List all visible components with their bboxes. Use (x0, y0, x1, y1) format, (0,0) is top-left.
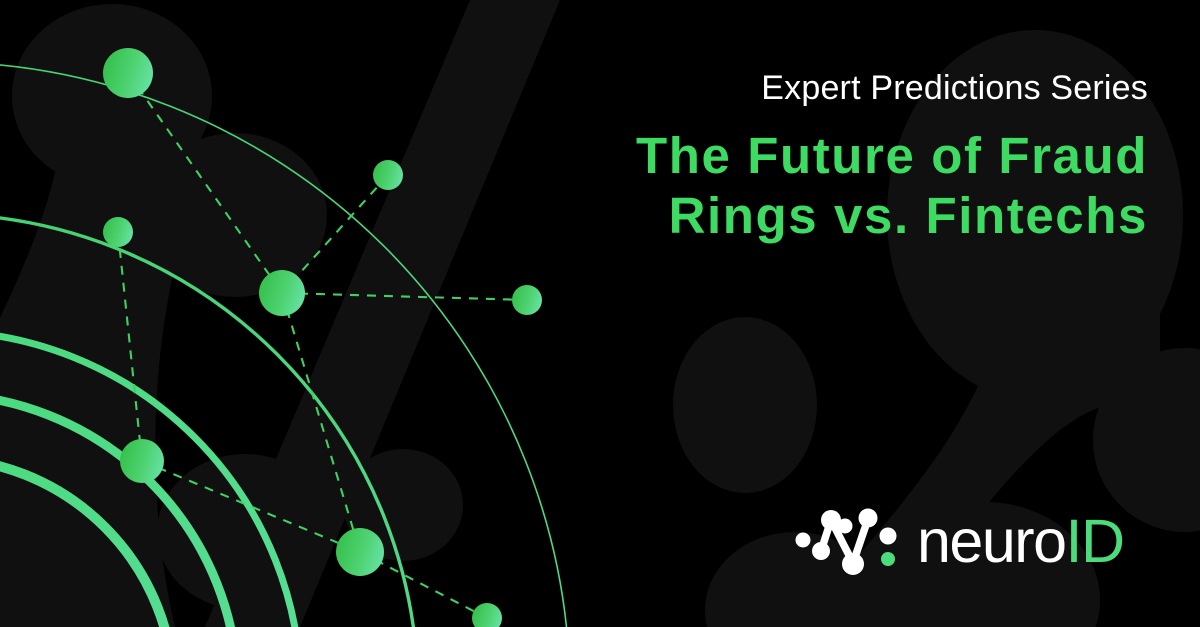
headline-line-2: Rings vs. Fintechs (448, 186, 1148, 246)
logo-colon-top (880, 528, 897, 545)
node-right-small (512, 285, 542, 315)
link-center-bottommid (282, 293, 360, 552)
page-title: The Future of Fraud Rings vs. Fintechs (448, 109, 1148, 246)
node-top-left (103, 48, 153, 98)
node-center (259, 270, 305, 316)
headline-block: Expert Predictions Series The Future of … (448, 0, 1148, 280)
node-left-small (103, 217, 133, 247)
logo-colon-bottom-accent (881, 552, 895, 566)
logo-word-neuro: neuro (917, 511, 1066, 572)
headline-line-1: The Future of Fraud (448, 126, 1148, 186)
neuroid-logo[interactable]: neuro ID (795, 495, 1187, 587)
logo-dot-far-left (796, 533, 811, 548)
node-bottom-right (472, 603, 502, 627)
promo-banner: Expert Predictions Series The Future of … (0, 0, 1200, 627)
neuroid-node-mark (795, 499, 903, 583)
link-leftsmall-leftlarge (118, 232, 142, 461)
logo-node-right-top (859, 509, 878, 528)
logo-wordmark: neuro ID (917, 511, 1124, 572)
logo-node-middle (838, 519, 853, 534)
node-bottom-mid (336, 528, 384, 576)
logo-word-id: ID (1066, 511, 1124, 572)
node-left-large (120, 439, 164, 483)
link-center-rightsmall (282, 293, 527, 300)
logo-node-bottom (842, 553, 864, 575)
arc-fourth (0, 394, 238, 627)
eyebrow-text: Expert Predictions Series (448, 0, 1148, 109)
link-topleft-center (128, 73, 282, 293)
logo-node-left-low (812, 542, 830, 560)
node-upper-mid (373, 160, 403, 190)
